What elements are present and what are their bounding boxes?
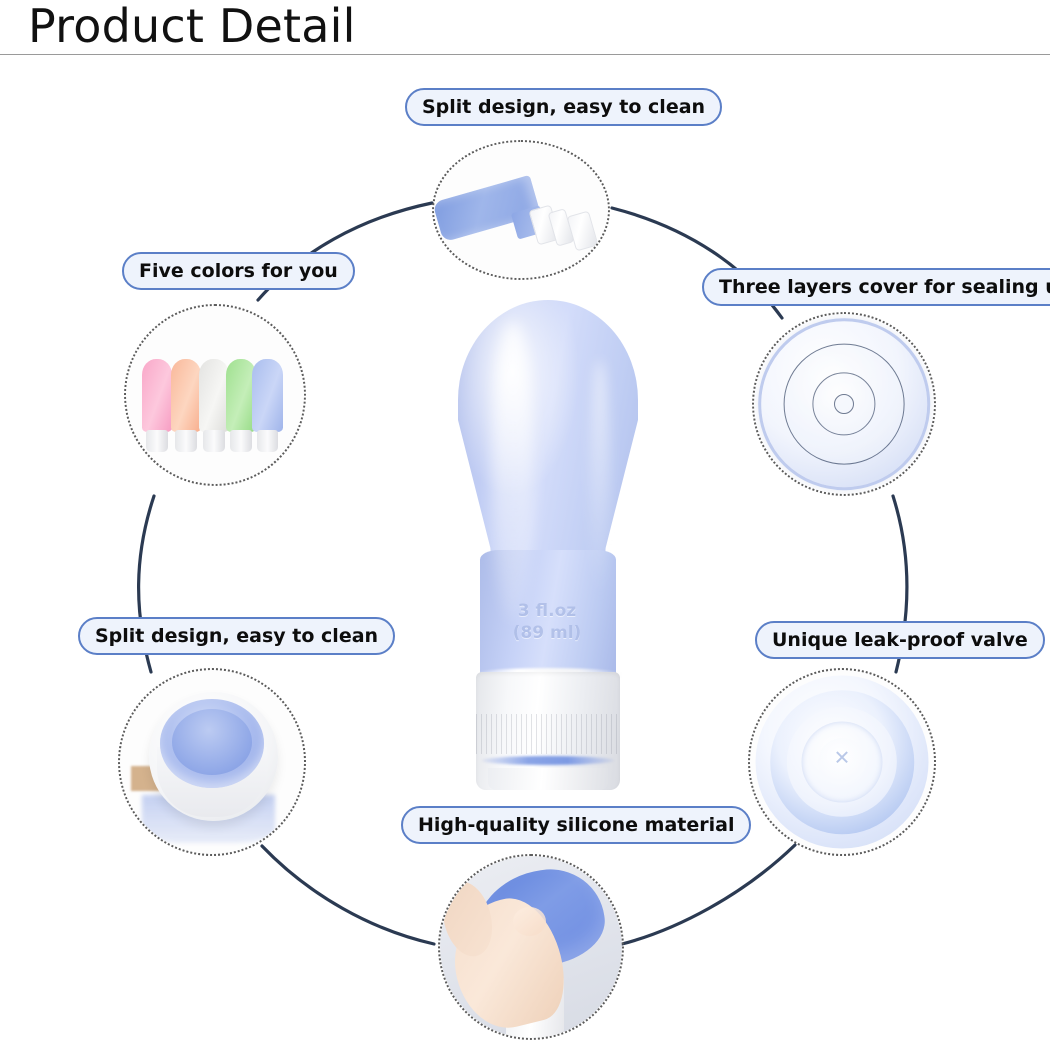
thumb-nail — [513, 907, 546, 936]
page-title: Product Detail — [28, 0, 356, 54]
cap-center-dot — [834, 394, 854, 414]
bottle-cap-blue-band — [482, 756, 614, 765]
bottle-green — [226, 359, 256, 452]
photo-open-bottle-mouth — [118, 668, 306, 856]
bottle-blue — [252, 359, 282, 452]
product-bottle: 3 fl.oz (89 ml) — [440, 300, 655, 800]
photo-hand-squeezing-bottle — [438, 854, 624, 1040]
photo-five-color-bottles — [124, 304, 306, 486]
bottle-cap — [476, 672, 620, 790]
bottle-highlight-left — [492, 322, 534, 622]
label-split-design-left: Split design, easy to clean — [78, 617, 395, 655]
capacity-ml: (89 ml) — [482, 622, 612, 644]
photo-cap-concentric-rings — [752, 312, 936, 496]
bottle-peach — [171, 359, 201, 452]
bottle-mouth-opening — [172, 709, 253, 775]
bottle-pink — [142, 359, 172, 452]
product-detail-infographic: Product Detail 3 fl.oz (89 ml) — [0, 0, 1050, 1025]
label-split-design-top: Split design, easy to clean — [405, 88, 722, 126]
title-divider — [0, 54, 1050, 55]
label-silicone-material: High-quality silicone material — [401, 806, 751, 844]
capacity-oz: 3 fl.oz — [482, 600, 612, 622]
bottle-capacity-emboss: 3 fl.oz (89 ml) — [482, 600, 612, 644]
bottle-cap-base — [488, 768, 608, 790]
label-three-layers: Three layers cover for sealing up — [702, 268, 1050, 306]
label-leak-proof-valve: Unique leak-proof valve — [755, 621, 1045, 659]
photo-split-neck-and-cap-parts — [432, 140, 610, 280]
bottle-highlight-right — [590, 360, 610, 600]
bottle-white — [199, 359, 229, 452]
photo-valve-cross-slit: ✕ — [748, 668, 936, 856]
label-five-colors: Five colors for you — [122, 252, 355, 290]
bottle-cap-ribs — [476, 714, 620, 754]
valve-cross-slit-icon: ✕ — [827, 747, 856, 776]
